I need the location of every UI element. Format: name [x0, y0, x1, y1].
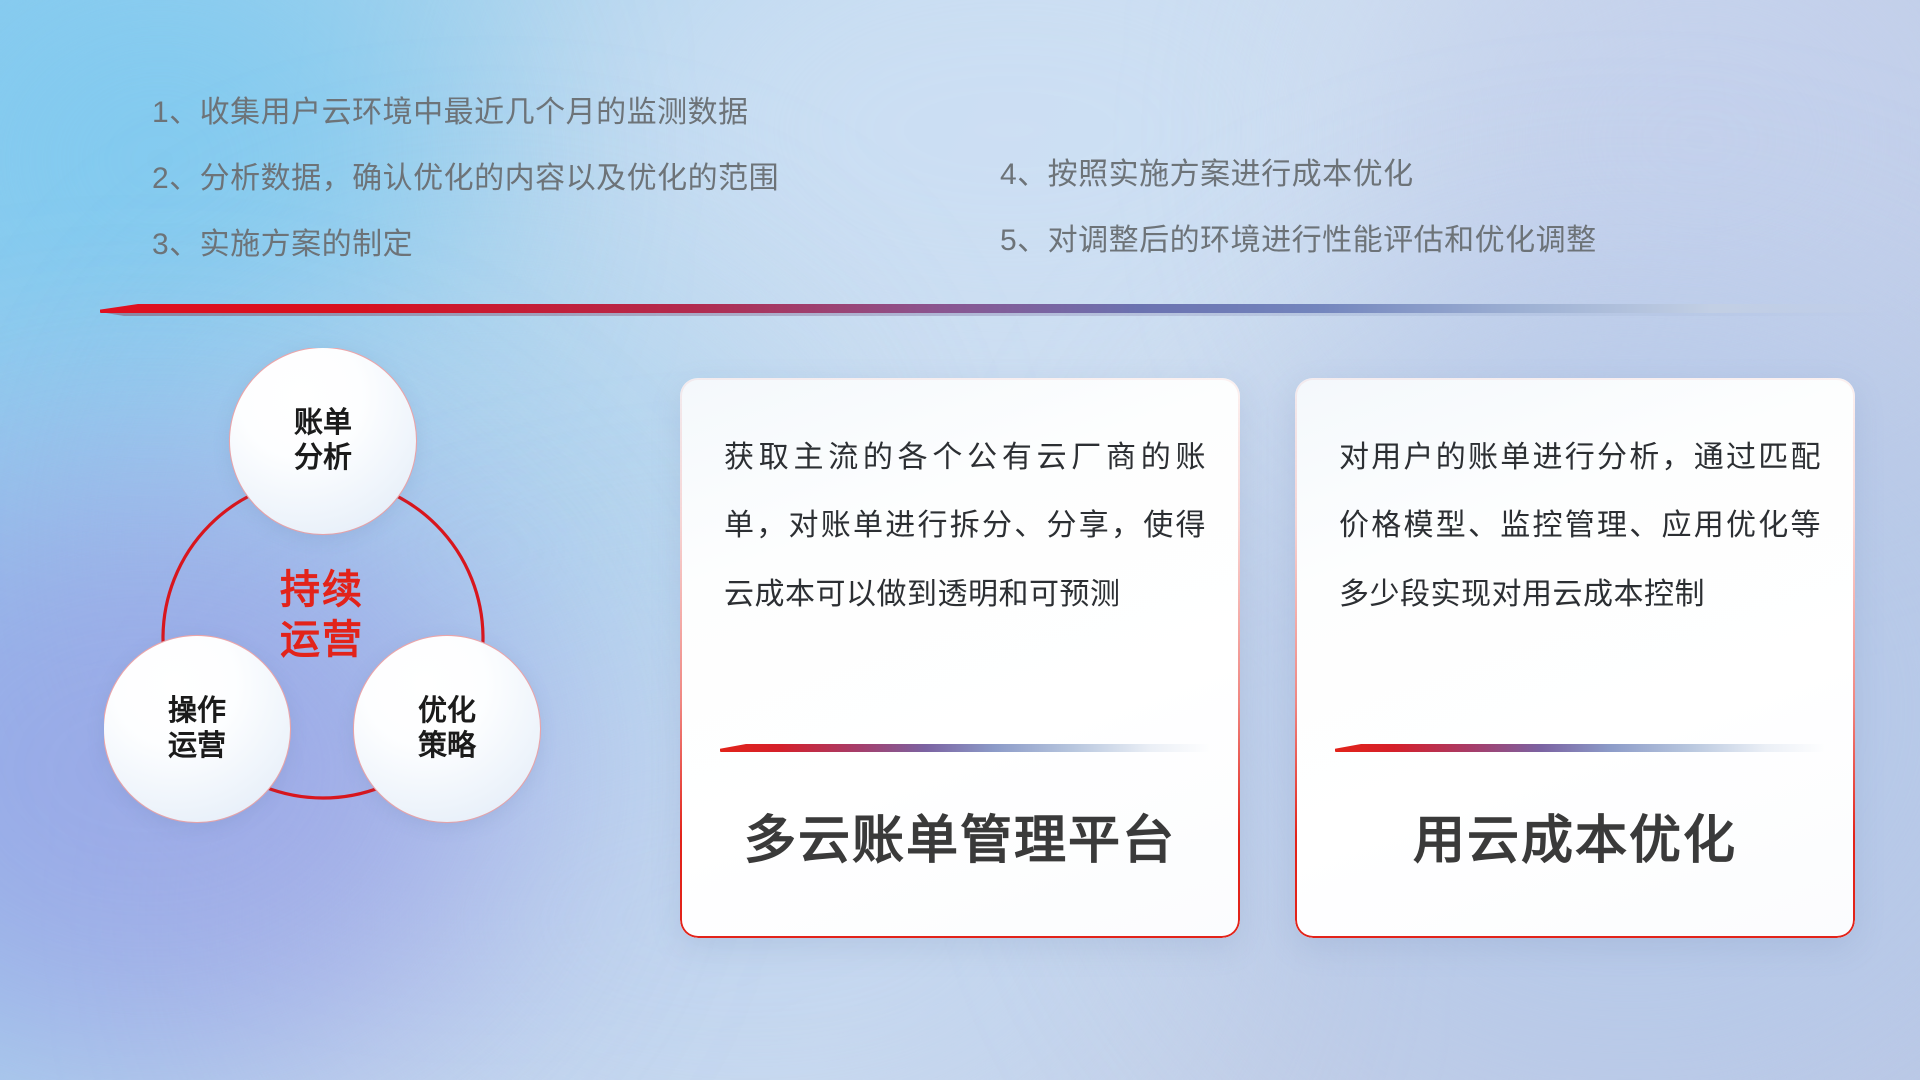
card-2-title: 用云成本优化 — [1295, 798, 1855, 873]
card-1-divider — [720, 744, 1210, 752]
step-item-2: 2、分析数据，确认优化的内容以及优化的范围 — [152, 164, 779, 194]
step-item-1: 1、收集用户云环境中最近几个月的监测数据 — [152, 98, 779, 128]
card-1-body-text: 获取主流的各个公有云厂商的账单，对账单进行拆分、分享，使得云成本可以做到透明和可… — [724, 424, 1206, 629]
venn-bubble-left-line2: 运营 — [168, 729, 226, 764]
steps-list-right: 4、按照实施方案进行成本优化 5、对调整后的环境进行性能评估和优化调整 — [1000, 160, 1597, 292]
venn-center-line2: 运营 — [280, 616, 364, 666]
step-item-4: 4、按照实施方案进行成本优化 — [1000, 160, 1597, 190]
venn-center-label: 持续 运营 — [222, 556, 422, 676]
step-item-5: 5、对调整后的环境进行性能评估和优化调整 — [1000, 226, 1597, 256]
section-divider-bar — [100, 304, 1890, 313]
feature-card-cost-optimization[interactable]: 对用户的账单进行分析，通过匹配价格模型、监控管理、应用优化等多少段实现对用云成本… — [1295, 378, 1855, 938]
venn-bubble-top-line1: 账单 — [294, 406, 352, 441]
venn-bubble-right-line1: 优化 — [418, 694, 476, 729]
venn-diagram: 账单 分析 操作 运营 优化 策略 持续 运营 — [104, 348, 644, 948]
venn-bubble-top-line2: 分析 — [294, 441, 352, 476]
steps-list-left: 1、收集用户云环境中最近几个月的监测数据 2、分析数据，确认优化的内容以及优化的… — [152, 98, 779, 296]
section-divider — [100, 300, 1890, 318]
venn-bubble-left-line1: 操作 — [168, 694, 226, 729]
venn-center-line1: 持续 — [280, 566, 364, 616]
card-2-body-text: 对用户的账单进行分析，通过匹配价格模型、监控管理、应用优化等多少段实现对用云成本… — [1339, 424, 1821, 629]
step-item-3: 3、实施方案的制定 — [152, 230, 779, 260]
venn-bubble-right-line2: 策略 — [418, 729, 476, 764]
venn-bubble-top[interactable]: 账单 分析 — [230, 348, 416, 534]
card-1-title: 多云账单管理平台 — [680, 798, 1240, 873]
card-2-divider — [1335, 744, 1825, 752]
feature-card-billing-platform[interactable]: 获取主流的各个公有云厂商的账单，对账单进行拆分、分享，使得云成本可以做到透明和可… — [680, 378, 1240, 938]
